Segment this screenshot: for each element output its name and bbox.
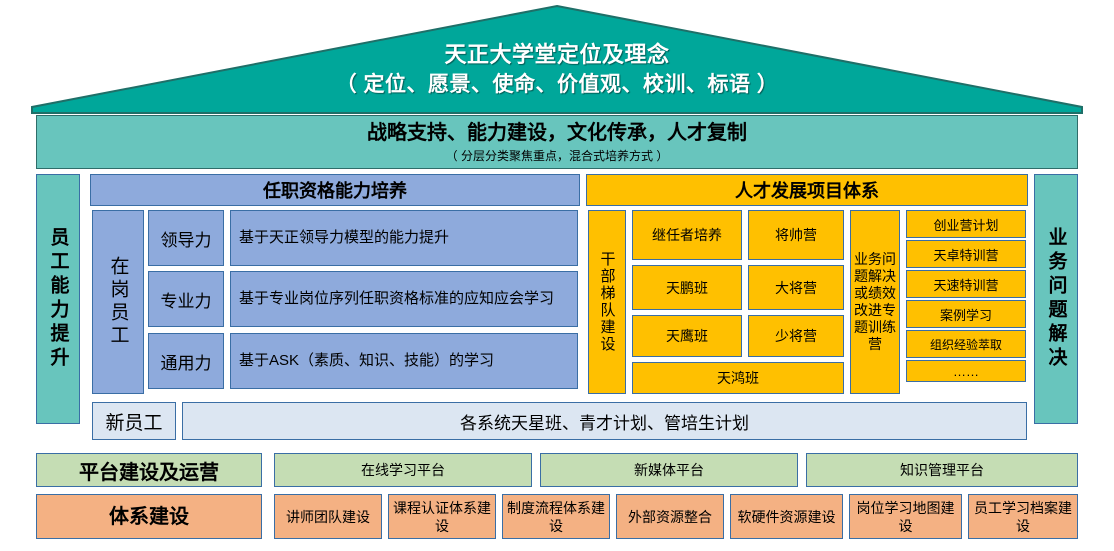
qualification-panel: 任职资格能力培养 在岗员工 领导力 基于天正领导力模型的能力提升 专业力 基于专… — [90, 174, 580, 396]
platform-lead-label: 平台建设及运营 — [36, 453, 262, 487]
talent-stack-item-case-study: 案例学习 — [906, 300, 1026, 328]
capability-tag-general: 通用力 — [148, 333, 224, 389]
strategy-main-text: 战略支持、能力建设，文化传承，人才复制 — [367, 121, 747, 145]
talent-item-tianhong: 天鸿班 — [632, 362, 844, 394]
talent-right-stack: 创业营计划 天卓特训营 天速特训营 案例学习 组织经验萃取 …… — [906, 210, 1026, 394]
on-job-employee-label: 在岗员工 — [92, 210, 144, 394]
system-item-external-resources: 外部资源整合 — [616, 494, 724, 539]
system-construction-row: 体系建设 讲师团队建设 课程认证体系建设 制度流程体系建设 外部资源整合 软硬件… — [36, 494, 1078, 539]
platform-item-knowledge-mgmt: 知识管理平台 — [806, 453, 1078, 487]
talent-development-panel: 人才发展项目体系 干部梯队建设 继任者培养 将帅营 天鹏班 大将营 天鹰班 少将… — [586, 174, 1028, 396]
talent-panel-title: 人才发展项目体系 — [586, 174, 1028, 206]
talent-stack-item-tiansu: 天速特训营 — [906, 270, 1026, 298]
capability-desc-general: 基于ASK（素质、知识、技能）的学习 — [230, 333, 578, 389]
talent-stack-item-startup: 创业营计划 — [906, 210, 1026, 238]
cadre-ladder-label: 干部梯队建设 — [588, 210, 626, 394]
business-problem-training-camp: 业务问题解决或绩效改进专题训练营 — [850, 210, 900, 394]
talent-item-tianying: 天鹰班 — [632, 315, 742, 357]
system-item-learning-map: 岗位学习地图建设 — [849, 494, 962, 539]
left-pillar-employee-capability: 员工能力提升 — [36, 174, 80, 424]
capability-tag-professional: 专业力 — [148, 271, 224, 327]
new-employee-programs: 各系统天星班、青才计划、管培生计划 — [182, 402, 1027, 440]
talent-item-tianpeng: 天鹏班 — [632, 265, 742, 310]
capability-tag-leadership: 领导力 — [148, 210, 224, 266]
system-lead-label: 体系建设 — [36, 494, 262, 539]
right-pillar-business-problem: 业务问题解决 — [1034, 174, 1078, 424]
new-employee-tag: 新员工 — [92, 402, 176, 440]
roof-triangle-shape — [30, 4, 1084, 114]
platform-item-new-media: 新媒体平台 — [540, 453, 798, 487]
platform-item-online-learning: 在线学习平台 — [274, 453, 532, 487]
talent-item-major-camp: 大将营 — [748, 265, 844, 310]
roof-section: 天正大学堂定位及理念 （ 定位、愿景、使命、价值观、校训、标语 ） — [30, 4, 1084, 114]
talent-item-minor-camp: 少将营 — [748, 315, 844, 357]
system-item-learning-records: 员工学习档案建设 — [968, 494, 1078, 539]
system-item-process-system: 制度流程体系建设 — [502, 494, 610, 539]
system-item-hardware-software: 软硬件资源建设 — [730, 494, 843, 539]
platform-row: 平台建设及运营 在线学习平台 新媒体平台 知识管理平台 — [36, 453, 1078, 487]
talent-item-successor: 继任者培养 — [632, 210, 742, 260]
capability-desc-professional: 基于专业岗位序列任职资格标准的应知应会学习 — [230, 271, 578, 327]
qualification-panel-title: 任职资格能力培养 — [90, 174, 580, 206]
strategy-band: 战略支持、能力建设，文化传承，人才复制 （ 分层分类聚焦重点，混合式培养方式 ） — [36, 115, 1078, 169]
talent-stack-item-tianzhuo: 天卓特训营 — [906, 240, 1026, 268]
system-item-course-certification: 课程认证体系建设 — [388, 494, 496, 539]
capability-desc-leadership: 基于天正领导力模型的能力提升 — [230, 210, 578, 266]
talent-stack-item-org-experience: 组织经验萃取 — [906, 330, 1026, 358]
main-body-area: 员工能力提升 任职资格能力培养 在岗员工 领导力 基于天正领导力模型的能力提升 … — [36, 174, 1078, 447]
strategy-sub-text: （ 分层分类聚焦重点，混合式培养方式 ） — [446, 147, 669, 164]
talent-item-general-camp: 将帅营 — [748, 210, 844, 260]
talent-stack-item-ellipsis: …… — [906, 360, 1026, 382]
pyramid-framework-diagram: 天正大学堂定位及理念 （ 定位、愿景、使命、价值观、校训、标语 ） 战略支持、能… — [0, 0, 1114, 551]
system-item-trainer-team: 讲师团队建设 — [274, 494, 382, 539]
